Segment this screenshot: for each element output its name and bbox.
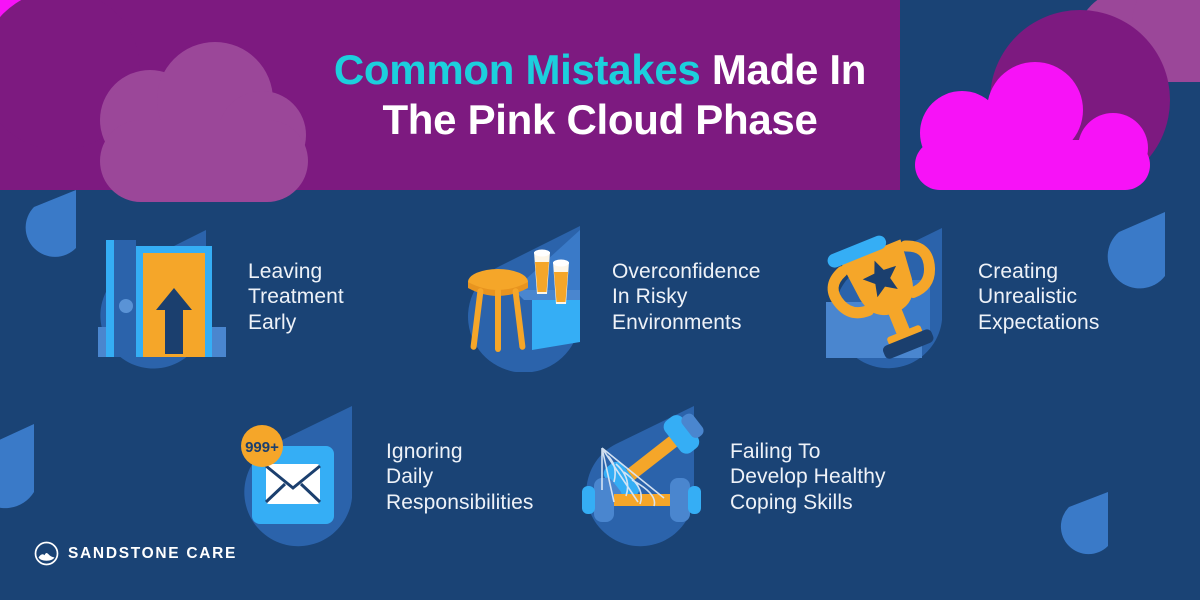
bar-stool-drinks-icon (452, 222, 602, 372)
raindrop-right-lower-icon (1061, 492, 1108, 554)
infographic-canvas: Common Mistakes Made In The Pink Cloud P… (0, 0, 1200, 600)
dumbbell-cobweb-icon (572, 402, 722, 552)
brand-logo-text: SANDSTONE CARE (68, 545, 237, 563)
door-exit-icon (88, 222, 238, 372)
list-item-label: Failing To Develop Healthy Coping Skills (730, 439, 886, 516)
list-item: 999+ Ignoring Daily Responsibilities (228, 402, 534, 552)
list-item-label: Overconfidence In Risky Environments (612, 259, 760, 336)
list-item-label: Ignoring Daily Responsibilities (386, 439, 534, 516)
raindrop-right-upper-icon (1108, 212, 1165, 288)
raindrop-left-icon (26, 190, 76, 257)
trophy-icon (818, 222, 968, 372)
raindrop-left-lower-icon (0, 424, 34, 508)
list-item: Failing To Develop Healthy Coping Skills (572, 402, 886, 552)
list-item-label: Creating Unrealistic Expectations (978, 259, 1099, 336)
brand-logo[interactable]: SANDSTONE CARE (34, 541, 237, 566)
list-item: Creating Unrealistic Expectations (818, 222, 1099, 372)
list-item: Leaving Treatment Early (88, 222, 344, 372)
list-item: Overconfidence In Risky Environments (452, 222, 760, 372)
list-item-label: Leaving Treatment Early (248, 259, 344, 336)
envelope-notification-icon: 999+ (228, 402, 378, 552)
badge-count: 999+ (245, 439, 279, 456)
mountain-circle-icon (34, 541, 59, 566)
